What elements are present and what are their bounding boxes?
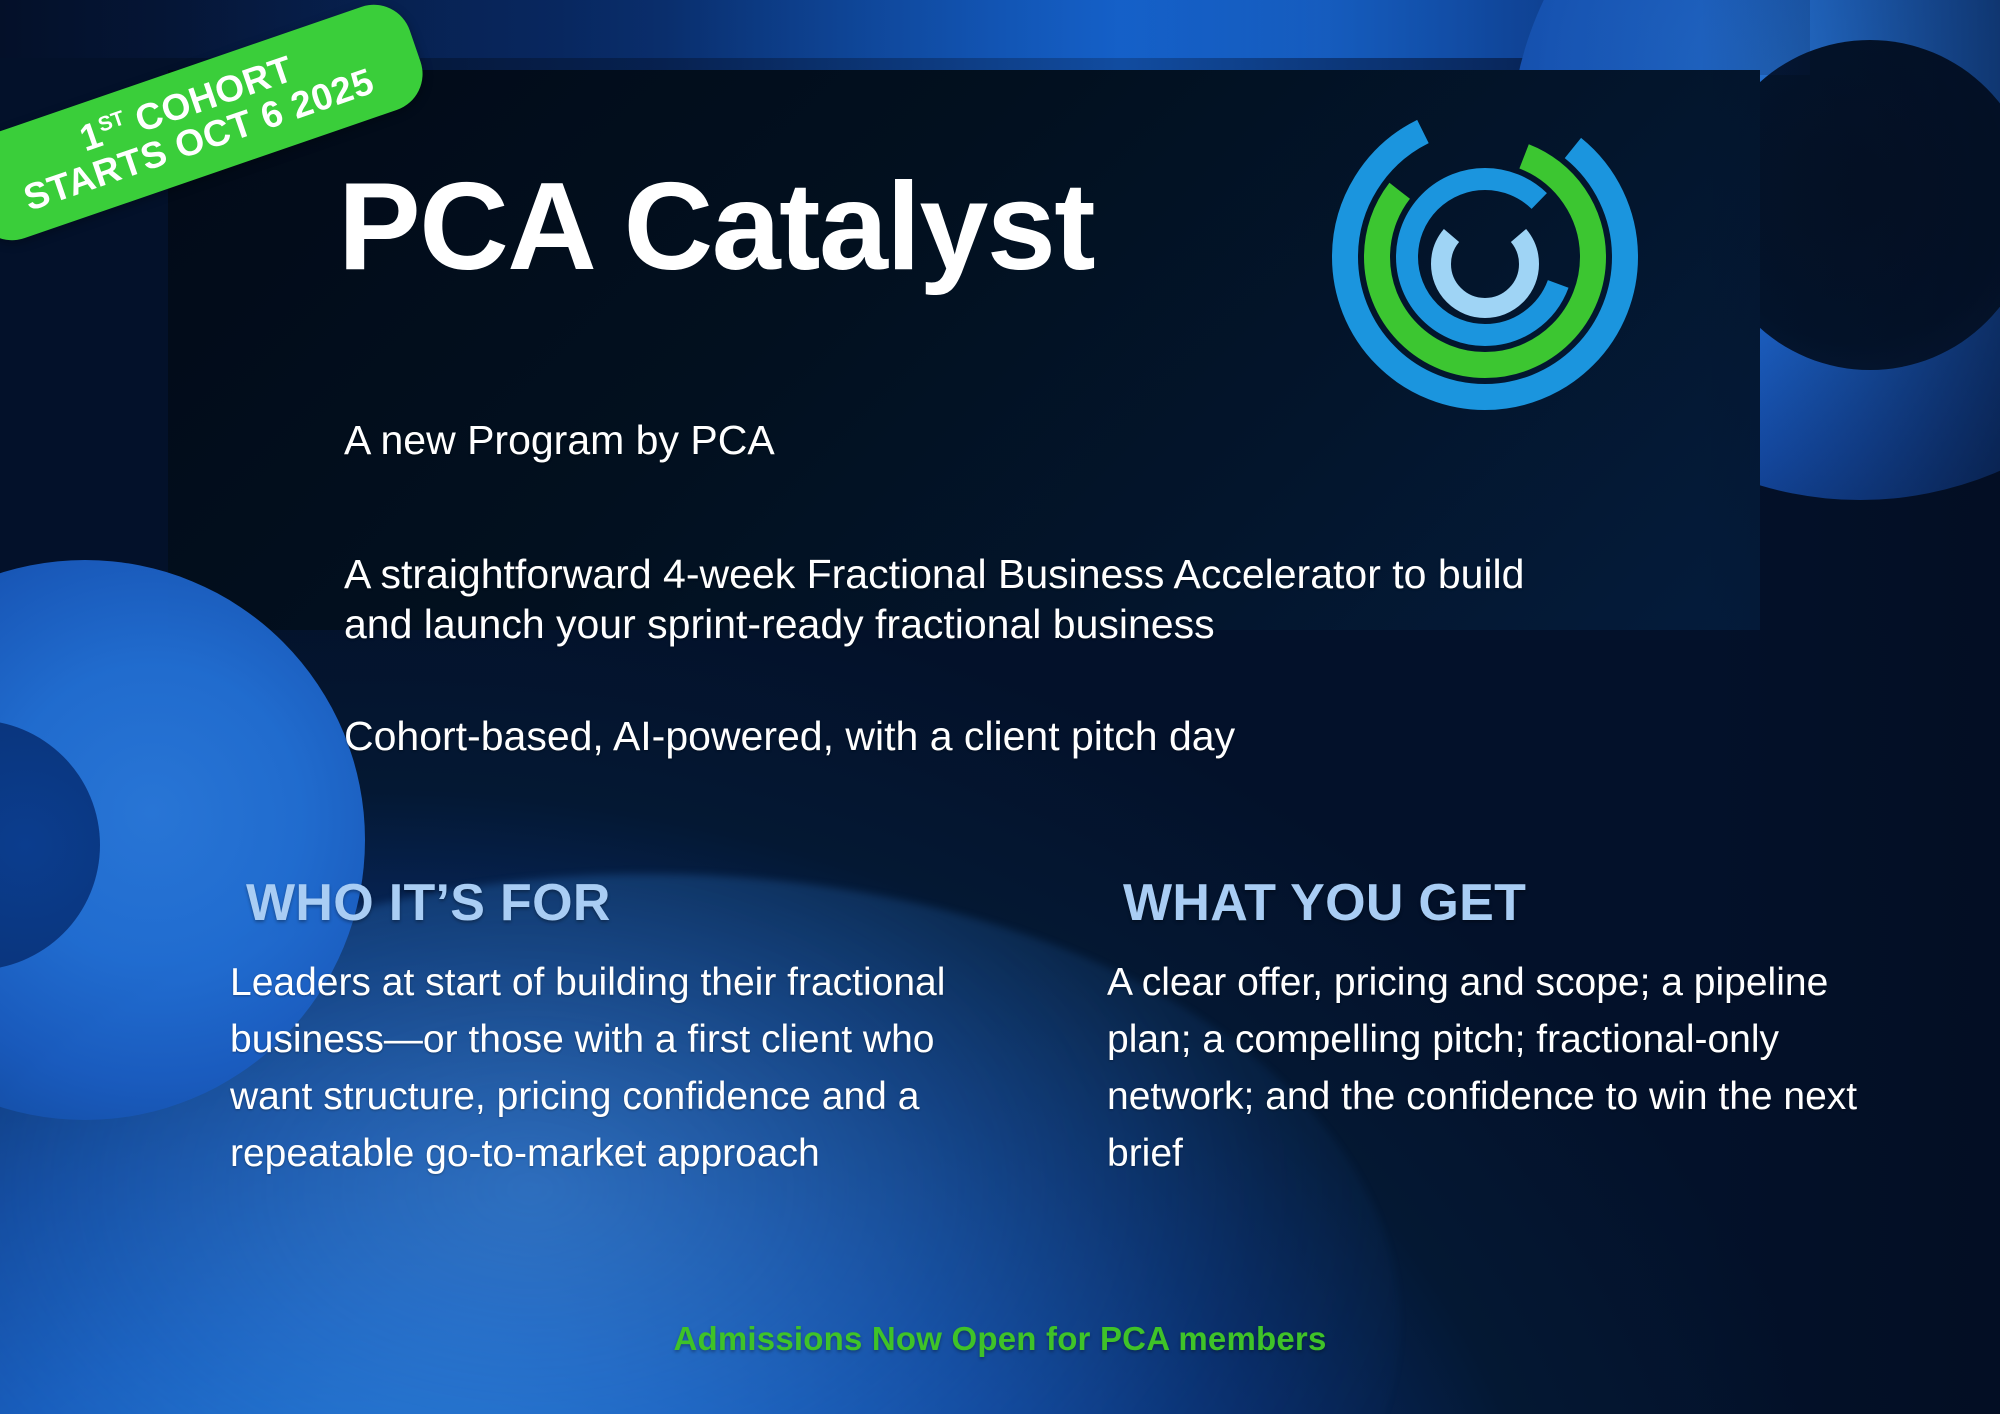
feature-columns: WHO IT’S FOR Leaders at start of buildin…: [230, 873, 1890, 1183]
copy-spacer-2: [344, 649, 1764, 711]
column-heading-what-you-get: WHAT YOU GET: [1123, 873, 1890, 933]
poster-canvas: 1ST COHORT STARTS OCT 6 2025 PCA Catalys…: [0, 0, 2000, 1414]
column-body-who-its-for: Leaders at start of building their fract…: [230, 955, 1015, 1183]
column-what-you-get: WHAT YOU GET A clear offer, pricing and …: [1105, 873, 1890, 1183]
column-body-what-you-get: A clear offer, pricing and scope; a pipe…: [1107, 955, 1890, 1183]
page-title: PCA Catalyst: [338, 165, 1094, 289]
admissions-footer-text: Admissions Now Open for PCA members: [0, 1320, 2000, 1358]
column-heading-who-its-for: WHO IT’S FOR: [246, 873, 1015, 933]
intro-description-line-1: A straightforward 4-week Fractional Busi…: [344, 549, 1764, 599]
pca-catalyst-circular-logo: C: [1320, 92, 1650, 422]
intro-format-line: Cohort-based, AI-powered, with a client …: [344, 711, 1764, 761]
intro-copy: A new Program by PCA A straightforward 4…: [344, 415, 1764, 761]
column-who-its-for: WHO IT’S FOR Leaders at start of buildin…: [230, 873, 1015, 1183]
intro-tagline: A new Program by PCA: [344, 415, 1764, 465]
copy-spacer-1: [344, 465, 1764, 549]
intro-description-line-2: and launch your sprint-ready fractional …: [344, 599, 1764, 649]
brand-title-row: PCA Catalyst: [338, 165, 1094, 289]
